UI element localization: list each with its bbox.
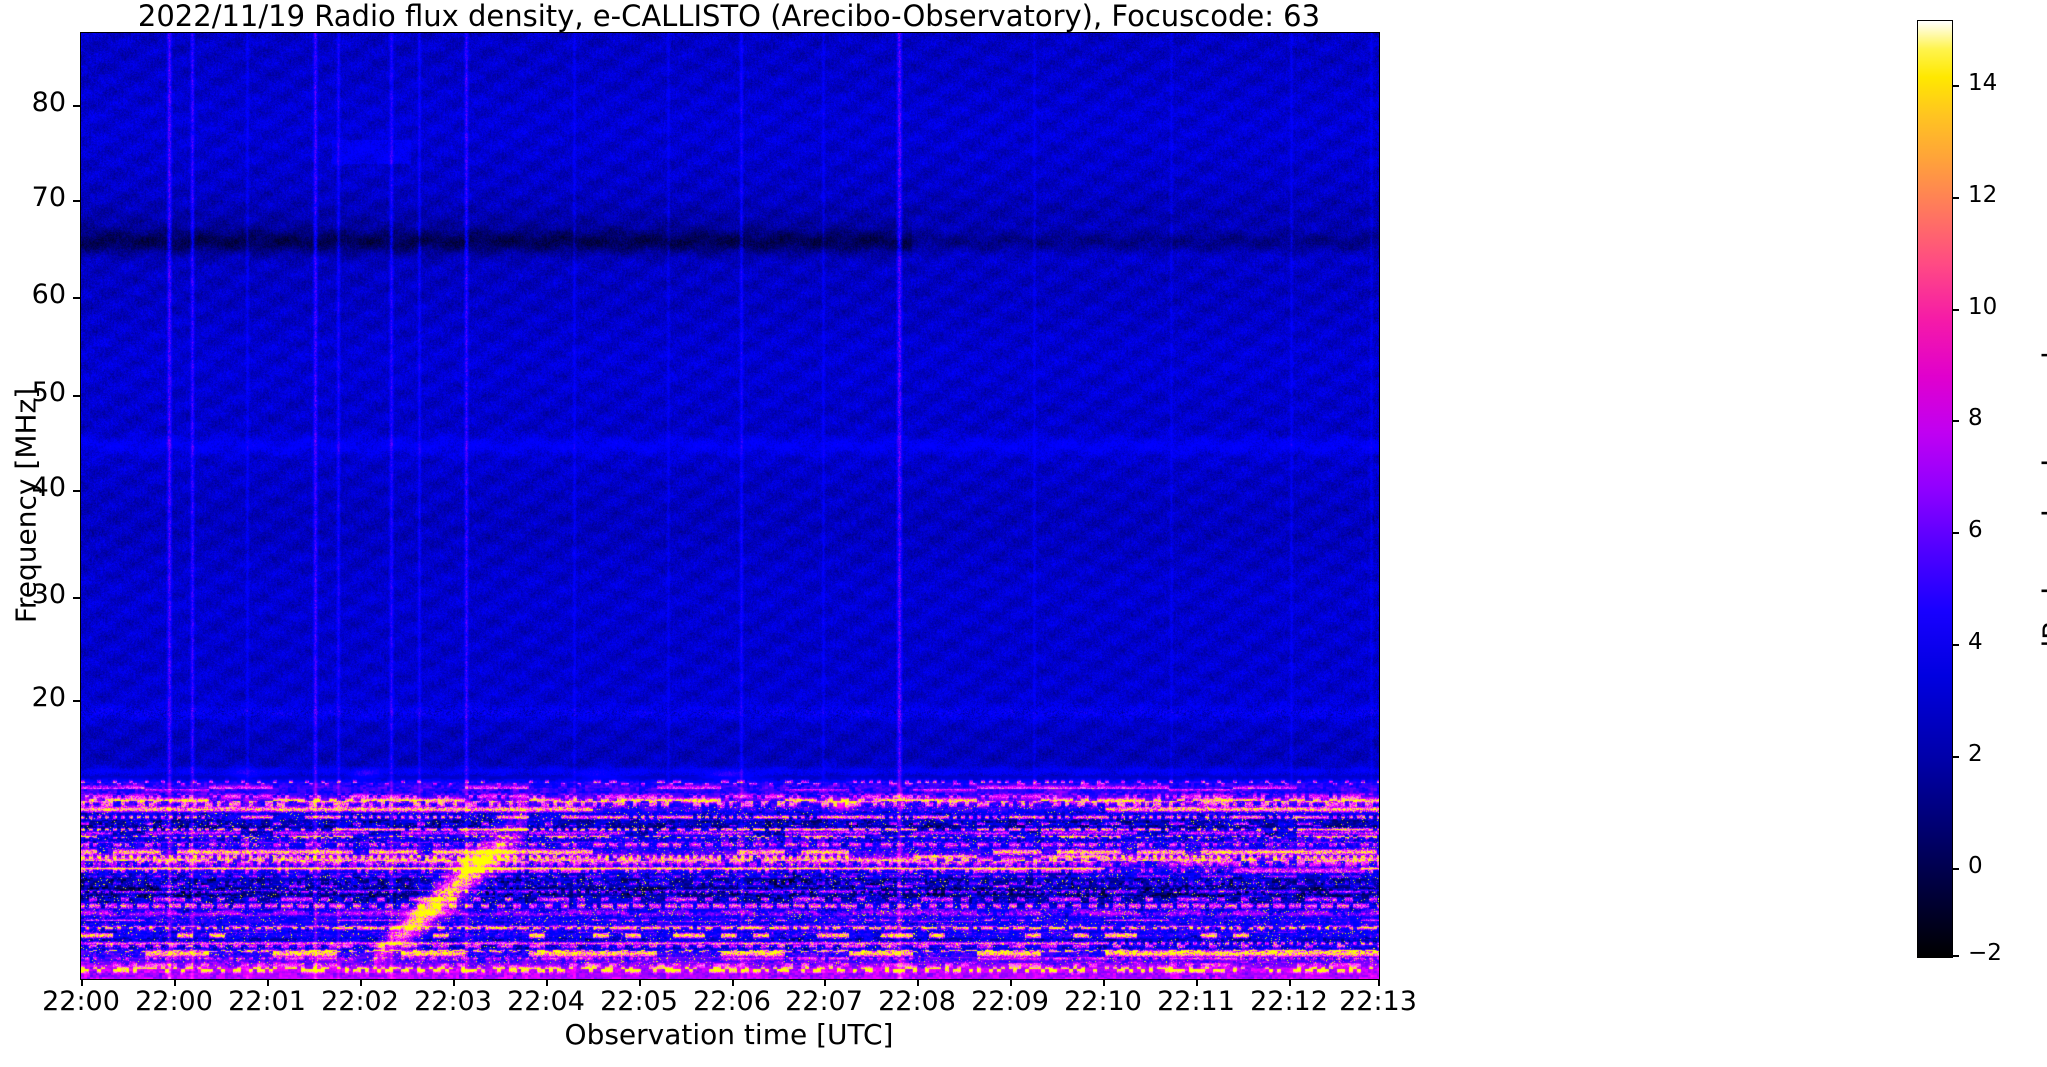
x-tick-label: 22:04 <box>507 986 585 1017</box>
colorbar-tick-mark <box>1952 197 1959 199</box>
y-axis-label: Frequency [MHz] <box>10 156 43 856</box>
x-tick-mark <box>1289 979 1291 986</box>
y-tick-mark <box>73 490 80 492</box>
y-tick-label: 80 <box>32 87 66 118</box>
x-tick-mark <box>824 979 826 986</box>
x-tick-label: 22:00 <box>135 986 213 1017</box>
y-tick-label: 60 <box>32 279 66 310</box>
x-tick-mark <box>732 979 734 986</box>
colorbar-tick-label: 12 <box>1968 182 1997 208</box>
x-tick-label: 22:11 <box>1157 986 1235 1017</box>
plot-area[interactable] <box>80 32 1380 980</box>
colorbar-tick-mark <box>1952 955 1959 957</box>
x-tick-mark <box>267 979 269 986</box>
y-tick-label: 70 <box>32 182 66 213</box>
y-tick-mark <box>73 105 80 107</box>
x-tick-mark <box>546 979 548 986</box>
x-tick-label: 22:03 <box>414 986 492 1017</box>
x-axis-label: Observation time [UTC] <box>80 1018 1378 1051</box>
x-tick-mark <box>1196 979 1198 986</box>
colorbar-tick-mark <box>1952 85 1959 87</box>
x-tick-mark <box>917 979 919 986</box>
x-tick-mark <box>1378 979 1380 986</box>
y-tick-label: 40 <box>32 472 66 503</box>
x-tick-mark <box>1103 979 1105 986</box>
colorbar-tick-mark <box>1952 868 1959 870</box>
y-tick-mark <box>73 297 80 299</box>
y-tick-mark <box>73 597 80 599</box>
colorbar-tick-mark <box>1952 420 1959 422</box>
y-tick-label: 20 <box>32 682 66 713</box>
x-tick-label: 22:01 <box>228 986 306 1017</box>
x-tick-label: 22:09 <box>971 986 1049 1017</box>
x-tick-label: 22:10 <box>1064 986 1142 1017</box>
x-tick-label: 22:07 <box>785 986 863 1017</box>
x-tick-label: 22:06 <box>693 986 771 1017</box>
colorbar-tick-mark <box>1952 532 1959 534</box>
x-tick-label: 22:02 <box>321 986 399 1017</box>
colorbar-tick-label: 6 <box>1968 517 1983 543</box>
page-title: 2022/11/19 Radio flux density, e-CALLIST… <box>80 0 1378 32</box>
colorbar-tick-label: 4 <box>1968 629 1983 655</box>
x-tick-mark <box>174 979 176 986</box>
y-tick-label: 50 <box>32 377 66 408</box>
colorbar-tick-label: −2 <box>1968 940 2002 966</box>
colorbar-tick-label: 14 <box>1968 70 1997 96</box>
x-tick-mark <box>639 979 641 986</box>
x-tick-label: 22:00 <box>42 986 120 1017</box>
colorbar-tick-mark <box>1952 644 1959 646</box>
x-tick-label: 22:13 <box>1339 986 1417 1017</box>
colorbar-tick-mark <box>1952 756 1959 758</box>
colorbar-tick-mark <box>1952 309 1959 311</box>
colorbar-tick-label: 10 <box>1968 294 1997 320</box>
x-tick-mark <box>453 979 455 986</box>
y-tick-mark <box>73 200 80 202</box>
x-tick-label: 22:05 <box>600 986 678 1017</box>
colorbar-tick-label: 8 <box>1968 405 1983 431</box>
colorbar-tick-label: 2 <box>1968 741 1983 767</box>
spectrogram-figure: 2022/11/19 Radio flux density, e-CALLIST… <box>0 0 2047 1067</box>
y-tick-mark <box>73 700 80 702</box>
spectrogram-heatmap <box>81 33 1379 979</box>
x-tick-label: 22:08 <box>878 986 956 1017</box>
x-tick-label: 22:12 <box>1250 986 1328 1017</box>
colorbar-label: dB above background <box>2037 155 2047 855</box>
x-tick-mark <box>360 979 362 986</box>
colorbar[interactable] <box>1917 20 1953 958</box>
colorbar-tick-label: 0 <box>1968 853 1983 879</box>
colorbar-gradient <box>1918 21 1952 957</box>
y-tick-label: 30 <box>32 579 66 610</box>
x-tick-mark <box>81 979 83 986</box>
y-tick-mark <box>73 395 80 397</box>
x-tick-mark <box>1010 979 1012 986</box>
